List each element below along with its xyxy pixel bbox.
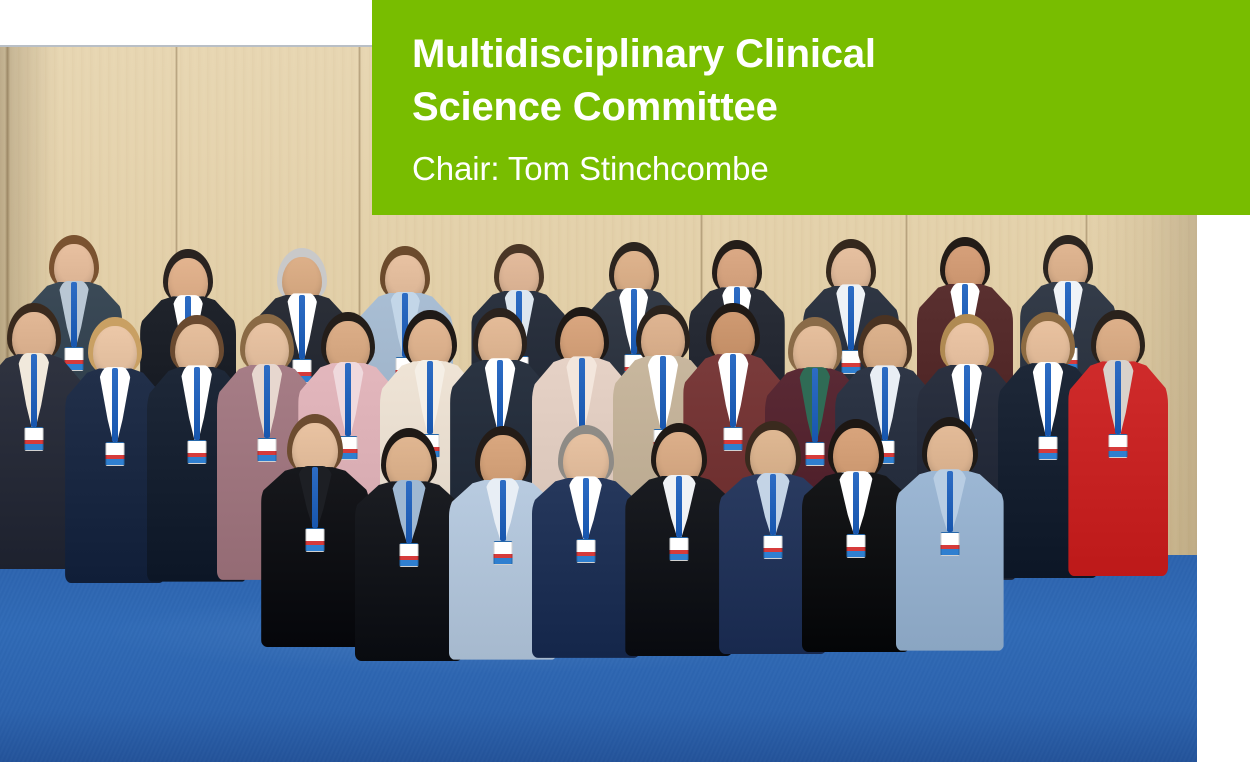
member-name-badge	[846, 534, 865, 558]
member-name-badge	[764, 535, 783, 559]
member-name-badge	[1038, 436, 1057, 460]
member-lanyard	[583, 478, 589, 539]
member-name-badge	[670, 537, 689, 561]
member-name-badge	[399, 543, 418, 567]
committee-member	[261, 419, 369, 645]
committee-member	[532, 430, 640, 656]
committee-member	[355, 433, 463, 659]
member-name-badge	[1109, 434, 1128, 458]
committee-member	[625, 428, 733, 654]
member-name-badge	[24, 427, 43, 451]
banner-title: Multidisciplinary Clinical Science Commi…	[412, 28, 1250, 134]
member-lanyard	[112, 368, 118, 441]
member-name-badge	[940, 532, 959, 556]
slide-canvas: Multidisciplinary Clinical Science Commi…	[0, 0, 1250, 771]
member-lanyard	[660, 356, 666, 429]
member-lanyard	[676, 476, 682, 537]
member-name-badge	[306, 528, 325, 552]
member-lanyard	[579, 358, 585, 431]
committee-member	[802, 424, 910, 650]
member-name-badge	[576, 539, 595, 563]
member-name-badge	[493, 541, 512, 565]
committee-member	[1068, 315, 1168, 574]
member-lanyard	[31, 354, 37, 427]
member-name-badge	[187, 440, 206, 464]
member-lanyard	[194, 367, 200, 440]
member-lanyard	[500, 480, 506, 541]
committee-member	[896, 422, 1004, 648]
member-lanyard	[427, 361, 433, 434]
member-lanyard	[497, 360, 503, 433]
member-name-badge	[106, 442, 125, 466]
member-lanyard	[312, 467, 318, 528]
member-lanyard	[947, 471, 953, 532]
member-lanyard	[730, 354, 736, 427]
member-lanyard	[406, 481, 412, 542]
banner-subtitle: Chair: Tom Stinchcombe	[412, 148, 1250, 190]
member-lanyard	[1045, 363, 1051, 436]
title-banner: Multidisciplinary Clinical Science Commi…	[372, 0, 1250, 215]
member-lanyard	[770, 474, 776, 535]
member-lanyard	[853, 472, 859, 533]
member-lanyard	[1115, 361, 1121, 434]
